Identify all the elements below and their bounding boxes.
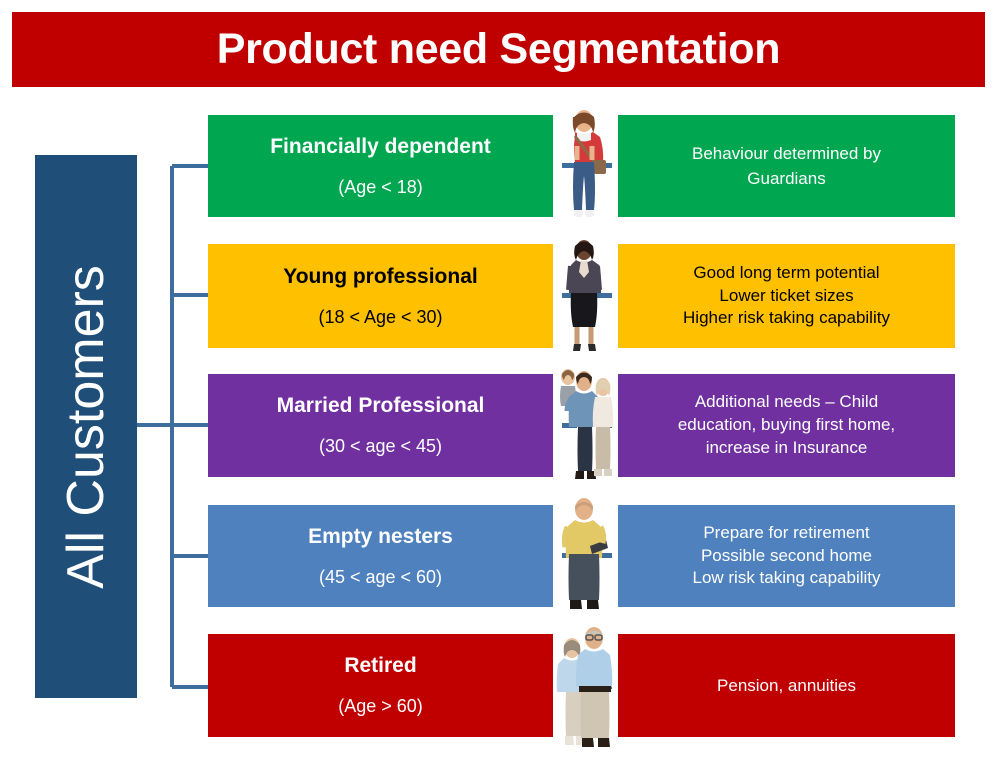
description-line: Pension, annuities	[717, 673, 856, 699]
segment-title: Financially dependent	[270, 135, 491, 159]
description-line: Good long term potential	[693, 262, 879, 285]
description-box-retired[interactable]: Pension, annuities	[618, 634, 955, 737]
description-line: Higher risk taking capability	[683, 307, 890, 330]
segment-age-range: (18 < Age < 30)	[318, 307, 442, 328]
segment-age-range: (45 < age < 60)	[319, 567, 442, 588]
segment-title: Empty nesters	[308, 525, 453, 549]
family-with-child-photo	[548, 365, 620, 490]
root-node-label: All Customers	[60, 265, 112, 589]
page-title: Product need Segmentation	[217, 28, 781, 71]
segment-title: Married Professional	[277, 394, 485, 418]
segment-age-range: (Age > 60)	[338, 696, 423, 717]
description-box-married-professional[interactable]: Additional needs – Child education, buyi…	[618, 374, 955, 477]
description-line: Lower ticket sizes	[719, 285, 853, 308]
segment-box-empty-nesters[interactable]: Empty nesters (45 < age < 60)	[208, 505, 553, 607]
young-woman-photo	[548, 108, 620, 228]
segment-box-retired[interactable]: Retired (Age > 60)	[208, 634, 553, 737]
businesswoman-photo	[548, 236, 620, 358]
description-box-young-professional[interactable]: Good long term potential Lower ticket si…	[618, 244, 955, 348]
segment-age-range: (30 < age < 45)	[319, 436, 442, 457]
segment-box-married-professional[interactable]: Married Professional (30 < age < 45)	[208, 374, 553, 477]
root-node-all-customers[interactable]: All Customers	[35, 155, 137, 698]
senior-couple-photo	[548, 620, 620, 765]
description-line: Guardians	[747, 166, 825, 192]
segment-box-financially-dependent[interactable]: Financially dependent (Age < 18)	[208, 115, 553, 217]
description-line: Possible second home	[701, 545, 872, 568]
description-line: education, buying first home,	[678, 414, 895, 437]
description-line: Additional needs – Child	[695, 391, 878, 414]
middle-aged-man-photo	[548, 494, 620, 618]
description-line: Low risk taking capability	[692, 567, 880, 590]
description-line: Prepare for retirement	[703, 522, 869, 545]
description-line: increase in Insurance	[706, 437, 868, 460]
title-banner: Product need Segmentation	[12, 12, 985, 87]
description-box-financially-dependent[interactable]: Behaviour determined by Guardians	[618, 115, 955, 217]
segment-box-young-professional[interactable]: Young professional (18 < Age < 30)	[208, 244, 553, 348]
segment-age-range: (Age < 18)	[338, 177, 423, 198]
segment-title: Retired	[344, 654, 416, 678]
description-line: Behaviour determined by	[692, 141, 881, 167]
description-box-empty-nesters[interactable]: Prepare for retirement Possible second h…	[618, 505, 955, 607]
segment-title: Young professional	[283, 265, 477, 289]
